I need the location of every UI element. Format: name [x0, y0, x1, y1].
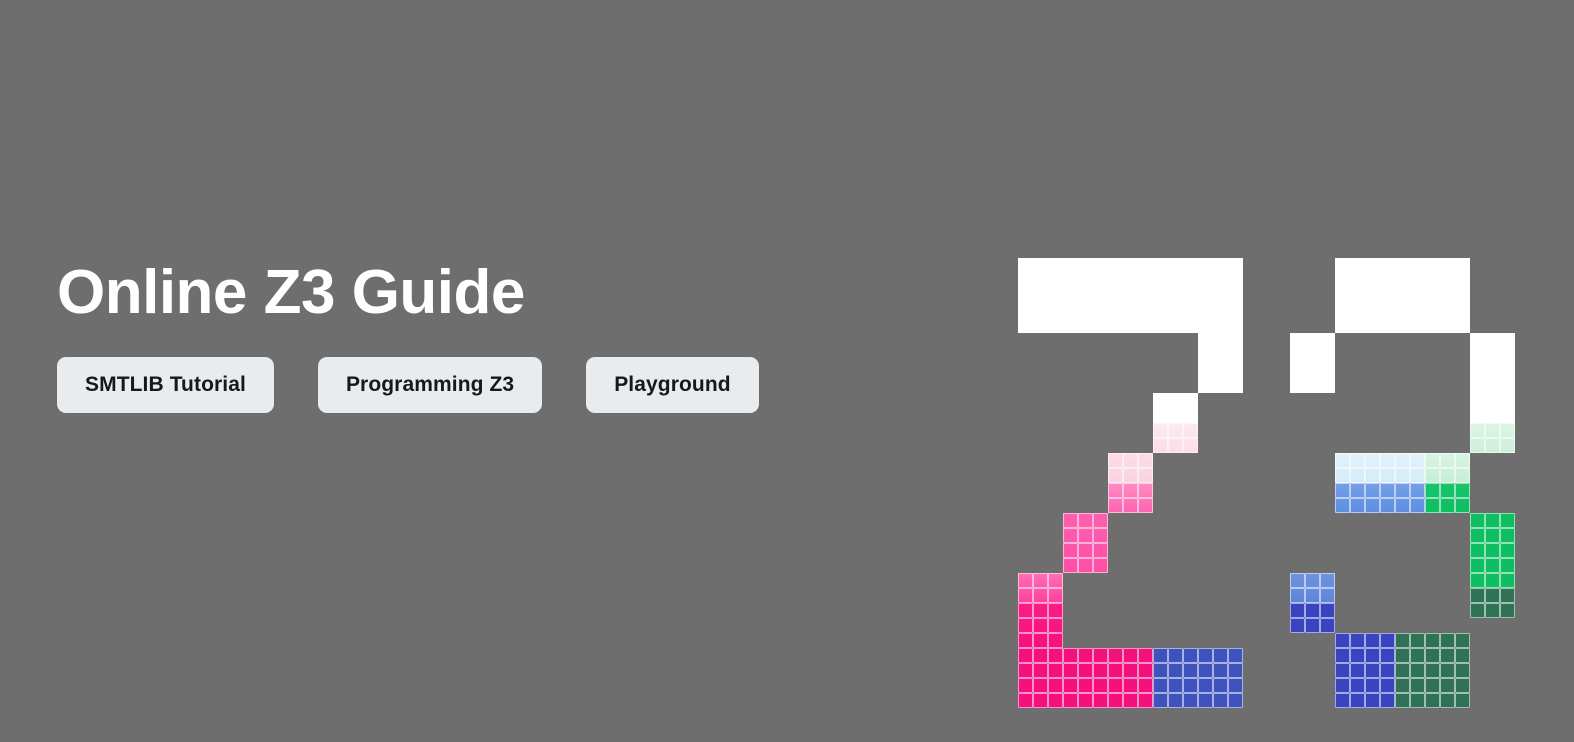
logo-pixel — [1425, 258, 1440, 273]
logo-pixel — [1078, 693, 1093, 708]
logo-pixel — [1018, 588, 1033, 603]
logo-pixel — [1108, 663, 1123, 678]
logo-pixel — [1078, 318, 1093, 333]
logo-pixel — [1305, 378, 1320, 393]
logo-pixel — [1350, 483, 1365, 498]
logo-pixel — [1455, 693, 1470, 708]
logo-pixel — [1350, 498, 1365, 513]
logo-pixel — [1290, 378, 1305, 393]
logo-pixel — [1138, 678, 1153, 693]
logo-pixel — [1470, 423, 1485, 438]
logo-pixel — [1335, 678, 1350, 693]
logo-pixel — [1048, 633, 1063, 648]
logo-pixel — [1138, 468, 1153, 483]
logo-pixel — [1350, 258, 1365, 273]
logo-pixel — [1138, 498, 1153, 513]
logo-pixel — [1228, 678, 1243, 693]
logo-pixel — [1470, 513, 1485, 528]
logo-pixel — [1455, 633, 1470, 648]
logo-pixel — [1500, 603, 1515, 618]
logo-pixel — [1108, 273, 1123, 288]
logo-pixel — [1350, 663, 1365, 678]
logo-block — [1470, 588, 1515, 618]
logo-pixel — [1048, 588, 1063, 603]
logo-pixel — [1048, 603, 1063, 618]
logo-pixel — [1455, 453, 1470, 468]
logo-pixel — [1153, 303, 1168, 318]
logo-pixel — [1290, 618, 1305, 633]
logo-pixel — [1033, 588, 1048, 603]
logo-pixel — [1380, 693, 1395, 708]
logo-pixel — [1350, 678, 1365, 693]
logo-pixel — [1335, 648, 1350, 663]
logo-pixel — [1410, 303, 1425, 318]
logo-pixel — [1410, 468, 1425, 483]
logo-pixel — [1365, 633, 1380, 648]
logo-pixel — [1380, 303, 1395, 318]
logo-pixel — [1500, 393, 1515, 408]
logo-pixel — [1018, 633, 1033, 648]
logo-pixel — [1078, 288, 1093, 303]
logo-pixel — [1485, 588, 1500, 603]
logo-pixel — [1078, 558, 1093, 573]
logo-pixel — [1320, 363, 1335, 378]
logo-pixel — [1018, 618, 1033, 633]
logo-pixel — [1485, 423, 1500, 438]
logo-pixel — [1228, 318, 1243, 333]
logo-pixel — [1153, 393, 1168, 408]
logo-pixel — [1335, 318, 1350, 333]
logo-pixel — [1093, 303, 1108, 318]
logo-pixel — [1455, 273, 1470, 288]
logo-pixel — [1485, 603, 1500, 618]
logo-pixel — [1228, 258, 1243, 273]
logo-pixel — [1033, 288, 1048, 303]
logo-pixel — [1228, 648, 1243, 663]
logo-pixel — [1063, 513, 1078, 528]
z3-pixel-logo — [1018, 258, 1518, 588]
logo-pixel — [1440, 468, 1455, 483]
logo-pixel — [1440, 258, 1455, 273]
logo-pixel — [1078, 273, 1093, 288]
logo-pixel — [1183, 258, 1198, 273]
logo-pixel — [1425, 453, 1440, 468]
logo-pixel — [1048, 318, 1063, 333]
logo-pixel — [1138, 303, 1153, 318]
logo-pixel — [1410, 318, 1425, 333]
logo-pixel — [1063, 678, 1078, 693]
logo-block — [1108, 483, 1153, 513]
logo-pixel — [1093, 678, 1108, 693]
logo-pixel — [1455, 468, 1470, 483]
logo-pixel — [1455, 288, 1470, 303]
logo-block — [1290, 603, 1335, 633]
logo-pixel — [1138, 483, 1153, 498]
logo-pixel — [1440, 693, 1455, 708]
logo-pixel — [1395, 693, 1410, 708]
logo-pixel — [1455, 483, 1470, 498]
logo-pixel — [1365, 468, 1380, 483]
logo-block — [1063, 513, 1108, 573]
logo-pixel — [1320, 348, 1335, 363]
logo-pixel — [1365, 663, 1380, 678]
logo-pixel — [1365, 483, 1380, 498]
logo-pixel — [1198, 348, 1213, 363]
logo-pixel — [1018, 258, 1033, 273]
logo-pixel — [1198, 273, 1213, 288]
logo-pixel — [1485, 333, 1500, 348]
logo-pixel — [1138, 318, 1153, 333]
logo-pixel — [1213, 273, 1228, 288]
logo-pixel — [1470, 573, 1485, 588]
logo-pixel — [1380, 483, 1395, 498]
logo-block — [1290, 573, 1335, 603]
logo-pixel — [1410, 678, 1425, 693]
logo-pixel — [1048, 678, 1063, 693]
logo-pixel — [1018, 693, 1033, 708]
logo-block — [1470, 333, 1515, 423]
logo-block — [1018, 648, 1153, 708]
logo-pixel — [1093, 288, 1108, 303]
playground-button[interactable]: Playground — [586, 357, 759, 413]
logo-pixel — [1168, 288, 1183, 303]
logo-pixel — [1183, 303, 1198, 318]
logo-pixel — [1108, 468, 1123, 483]
logo-pixel — [1228, 663, 1243, 678]
logo-pixel — [1380, 663, 1395, 678]
logo-pixel — [1078, 513, 1093, 528]
logo-pixel — [1320, 603, 1335, 618]
logo-pixel — [1183, 693, 1198, 708]
logo-pixel — [1228, 378, 1243, 393]
logo-pixel — [1138, 288, 1153, 303]
logo-pixel — [1470, 333, 1485, 348]
logo-pixel — [1093, 648, 1108, 663]
logo-pixel — [1213, 648, 1228, 663]
logo-pixel — [1183, 408, 1198, 423]
logo-pixel — [1320, 618, 1335, 633]
logo-pixel — [1138, 648, 1153, 663]
logo-pixel — [1500, 558, 1515, 573]
logo-pixel — [1395, 303, 1410, 318]
logo-pixel — [1485, 543, 1500, 558]
logo-pixel — [1395, 663, 1410, 678]
programming-z3-button[interactable]: Programming Z3 — [318, 357, 542, 413]
logo-pixel — [1380, 453, 1395, 468]
logo-pixel — [1168, 258, 1183, 273]
logo-block — [1153, 648, 1243, 708]
logo-pixel — [1078, 258, 1093, 273]
logo-pixel — [1123, 318, 1138, 333]
logo-pixel — [1168, 648, 1183, 663]
logo-pixel — [1063, 318, 1078, 333]
logo-pixel — [1198, 648, 1213, 663]
logo-pixel — [1425, 288, 1440, 303]
logo-pixel — [1228, 333, 1243, 348]
page-title: Online Z3 Guide — [57, 258, 957, 327]
logo-pixel — [1123, 498, 1138, 513]
logo-pixel — [1183, 438, 1198, 453]
logo-pixel — [1380, 498, 1395, 513]
logo-pixel — [1395, 483, 1410, 498]
logo-pixel — [1455, 678, 1470, 693]
logo-pixel — [1485, 408, 1500, 423]
logo-pixel — [1213, 333, 1228, 348]
logo-pixel — [1395, 678, 1410, 693]
logo-pixel — [1063, 258, 1078, 273]
logo-pixel — [1063, 273, 1078, 288]
logo-block — [1335, 633, 1395, 708]
logo-pixel — [1470, 408, 1485, 423]
logo-pixel — [1350, 288, 1365, 303]
logo-pixel — [1470, 558, 1485, 573]
logo-pixel — [1123, 663, 1138, 678]
logo-pixel — [1440, 483, 1455, 498]
logo-pixel — [1123, 288, 1138, 303]
logo-pixel — [1153, 288, 1168, 303]
logo-pixel — [1123, 273, 1138, 288]
logo-block — [1425, 483, 1470, 513]
logo-block — [1018, 573, 1063, 603]
logo-pixel — [1470, 438, 1485, 453]
logo-block — [1108, 453, 1153, 483]
logo-block — [1153, 423, 1198, 453]
logo-pixel — [1078, 543, 1093, 558]
logo-pixel — [1350, 273, 1365, 288]
logo-pixel — [1425, 633, 1440, 648]
logo-pixel — [1470, 363, 1485, 378]
logo-pixel — [1138, 663, 1153, 678]
logo-pixel — [1290, 603, 1305, 618]
logo-pixel — [1183, 663, 1198, 678]
logo-pixel — [1485, 438, 1500, 453]
logo-pixel — [1305, 573, 1320, 588]
logo-pixel — [1500, 378, 1515, 393]
logo-pixel — [1048, 573, 1063, 588]
logo-pixel — [1440, 498, 1455, 513]
logo-pixel — [1425, 663, 1440, 678]
logo-pixel — [1425, 678, 1440, 693]
logo-pixel — [1138, 258, 1153, 273]
logo-pixel — [1033, 663, 1048, 678]
logo-pixel — [1183, 393, 1198, 408]
logo-pixel — [1213, 318, 1228, 333]
logo-pixel — [1410, 663, 1425, 678]
logo-pixel — [1138, 693, 1153, 708]
logo-pixel — [1063, 663, 1078, 678]
logo-pixel — [1290, 573, 1305, 588]
logo-pixel — [1093, 318, 1108, 333]
logo-pixel — [1168, 678, 1183, 693]
logo-pixel — [1470, 528, 1485, 543]
logo-pixel — [1395, 468, 1410, 483]
logo-block — [1470, 513, 1515, 588]
logo-pixel — [1425, 273, 1440, 288]
logo-pixel — [1153, 408, 1168, 423]
logo-pixel — [1123, 453, 1138, 468]
logo-pixel — [1033, 258, 1048, 273]
logo-pixel — [1018, 318, 1033, 333]
logo-pixel — [1410, 273, 1425, 288]
logo-pixel — [1335, 258, 1350, 273]
logo-pixel — [1123, 468, 1138, 483]
logo-pixel — [1440, 318, 1455, 333]
logo-pixel — [1410, 498, 1425, 513]
logo-pixel — [1350, 318, 1365, 333]
logo-pixel — [1228, 273, 1243, 288]
logo-pixel — [1380, 273, 1395, 288]
logo-block — [1153, 393, 1198, 423]
logo-pixel — [1500, 438, 1515, 453]
logo-pixel — [1048, 693, 1063, 708]
logo-pixel — [1033, 273, 1048, 288]
logo-pixel — [1048, 618, 1063, 633]
logo-pixel — [1183, 423, 1198, 438]
logo-pixel — [1500, 543, 1515, 558]
logo-pixel — [1018, 663, 1033, 678]
logo-pixel — [1305, 363, 1320, 378]
logo-pixel — [1153, 258, 1168, 273]
logo-pixel — [1365, 273, 1380, 288]
logo-pixel — [1153, 273, 1168, 288]
logo-pixel — [1395, 633, 1410, 648]
logo-pixel — [1108, 498, 1123, 513]
logo-pixel — [1033, 618, 1048, 633]
logo-pixel — [1033, 633, 1048, 648]
logo-pixel — [1425, 648, 1440, 663]
logo-pixel — [1410, 693, 1425, 708]
logo-pixel — [1335, 633, 1350, 648]
logo-pixel — [1485, 558, 1500, 573]
logo-pixel — [1183, 318, 1198, 333]
logo-pixel — [1440, 453, 1455, 468]
logo-pixel — [1305, 348, 1320, 363]
logo-pixel — [1168, 393, 1183, 408]
logo-pixel — [1305, 588, 1320, 603]
logo-pixel — [1365, 453, 1380, 468]
logo-pixel — [1425, 468, 1440, 483]
logo-pixel — [1425, 693, 1440, 708]
logo-pixel — [1108, 678, 1123, 693]
logo-pixel — [1440, 648, 1455, 663]
logo-pixel — [1228, 288, 1243, 303]
logo-pixel — [1018, 573, 1033, 588]
logo-pixel — [1350, 468, 1365, 483]
logo-pixel — [1078, 528, 1093, 543]
logo-pixel — [1123, 648, 1138, 663]
logo-pixel — [1213, 258, 1228, 273]
logo-pixel — [1290, 348, 1305, 363]
logo-pixel — [1108, 303, 1123, 318]
logo-pixel — [1335, 693, 1350, 708]
logo-pixel — [1153, 678, 1168, 693]
logo-pixel — [1440, 303, 1455, 318]
logo-pixel — [1093, 558, 1108, 573]
logo-pixel — [1500, 408, 1515, 423]
logo-pixel — [1048, 663, 1063, 678]
logo-pixel — [1440, 678, 1455, 693]
logo-pixel — [1350, 453, 1365, 468]
logo-pixel — [1093, 528, 1108, 543]
logo-pixel — [1470, 393, 1485, 408]
logo-block — [1018, 258, 1243, 333]
logo-pixel — [1078, 303, 1093, 318]
logo-pixel — [1485, 528, 1500, 543]
logo-pixel — [1153, 423, 1168, 438]
logo-pixel — [1335, 663, 1350, 678]
logo-pixel — [1108, 483, 1123, 498]
logo-pixel — [1380, 678, 1395, 693]
logo-pixel — [1395, 258, 1410, 273]
logo-pixel — [1455, 258, 1470, 273]
logo-pixel — [1485, 348, 1500, 363]
logo-pixel — [1153, 693, 1168, 708]
logo-pixel — [1500, 363, 1515, 378]
logo-pixel — [1168, 663, 1183, 678]
logo-pixel — [1033, 573, 1048, 588]
logo-pixel — [1048, 273, 1063, 288]
logo-pixel — [1365, 678, 1380, 693]
logo-pixel — [1048, 288, 1063, 303]
logo-pixel — [1410, 483, 1425, 498]
logo-pixel — [1228, 303, 1243, 318]
logo-block — [1425, 453, 1470, 483]
logo-pixel — [1183, 288, 1198, 303]
logo-pixel — [1198, 303, 1213, 318]
logo-pixel — [1410, 453, 1425, 468]
logo-pixel — [1305, 603, 1320, 618]
logo-pixel — [1320, 588, 1335, 603]
logo-pixel — [1290, 363, 1305, 378]
logo-pixel — [1380, 288, 1395, 303]
logo-pixel — [1290, 333, 1305, 348]
logo-block — [1018, 603, 1063, 648]
logo-pixel — [1093, 273, 1108, 288]
logo-pixel — [1138, 453, 1153, 468]
hero-section: Online Z3 Guide SMTLIB Tutorial Programm… — [0, 0, 1574, 742]
logo-pixel — [1395, 648, 1410, 663]
logo-pixel — [1078, 663, 1093, 678]
logo-pixel — [1470, 588, 1485, 603]
logo-pixel — [1063, 303, 1078, 318]
logo-pixel — [1335, 303, 1350, 318]
logo-pixel — [1213, 378, 1228, 393]
logo-pixel — [1168, 438, 1183, 453]
logo-pixel — [1440, 273, 1455, 288]
logo-pixel — [1063, 543, 1078, 558]
logo-pixel — [1108, 648, 1123, 663]
logo-pixel — [1033, 678, 1048, 693]
logo-pixel — [1500, 573, 1515, 588]
logo-pixel — [1335, 468, 1350, 483]
logo-pixel — [1485, 363, 1500, 378]
logo-pixel — [1305, 618, 1320, 633]
logo-pixel — [1093, 543, 1108, 558]
logo-pixel — [1123, 483, 1138, 498]
logo-pixel — [1063, 648, 1078, 663]
logo-pixel — [1500, 348, 1515, 363]
logo-pixel — [1018, 678, 1033, 693]
logo-pixel — [1048, 258, 1063, 273]
logo-pixel — [1138, 273, 1153, 288]
logo-block — [1198, 333, 1243, 393]
smtlib-tutorial-button[interactable]: SMTLIB Tutorial — [57, 357, 274, 413]
logo-pixel — [1123, 678, 1138, 693]
logo-pixel — [1198, 288, 1213, 303]
logo-pixel — [1365, 303, 1380, 318]
logo-pixel — [1183, 648, 1198, 663]
logo-pixel — [1410, 258, 1425, 273]
